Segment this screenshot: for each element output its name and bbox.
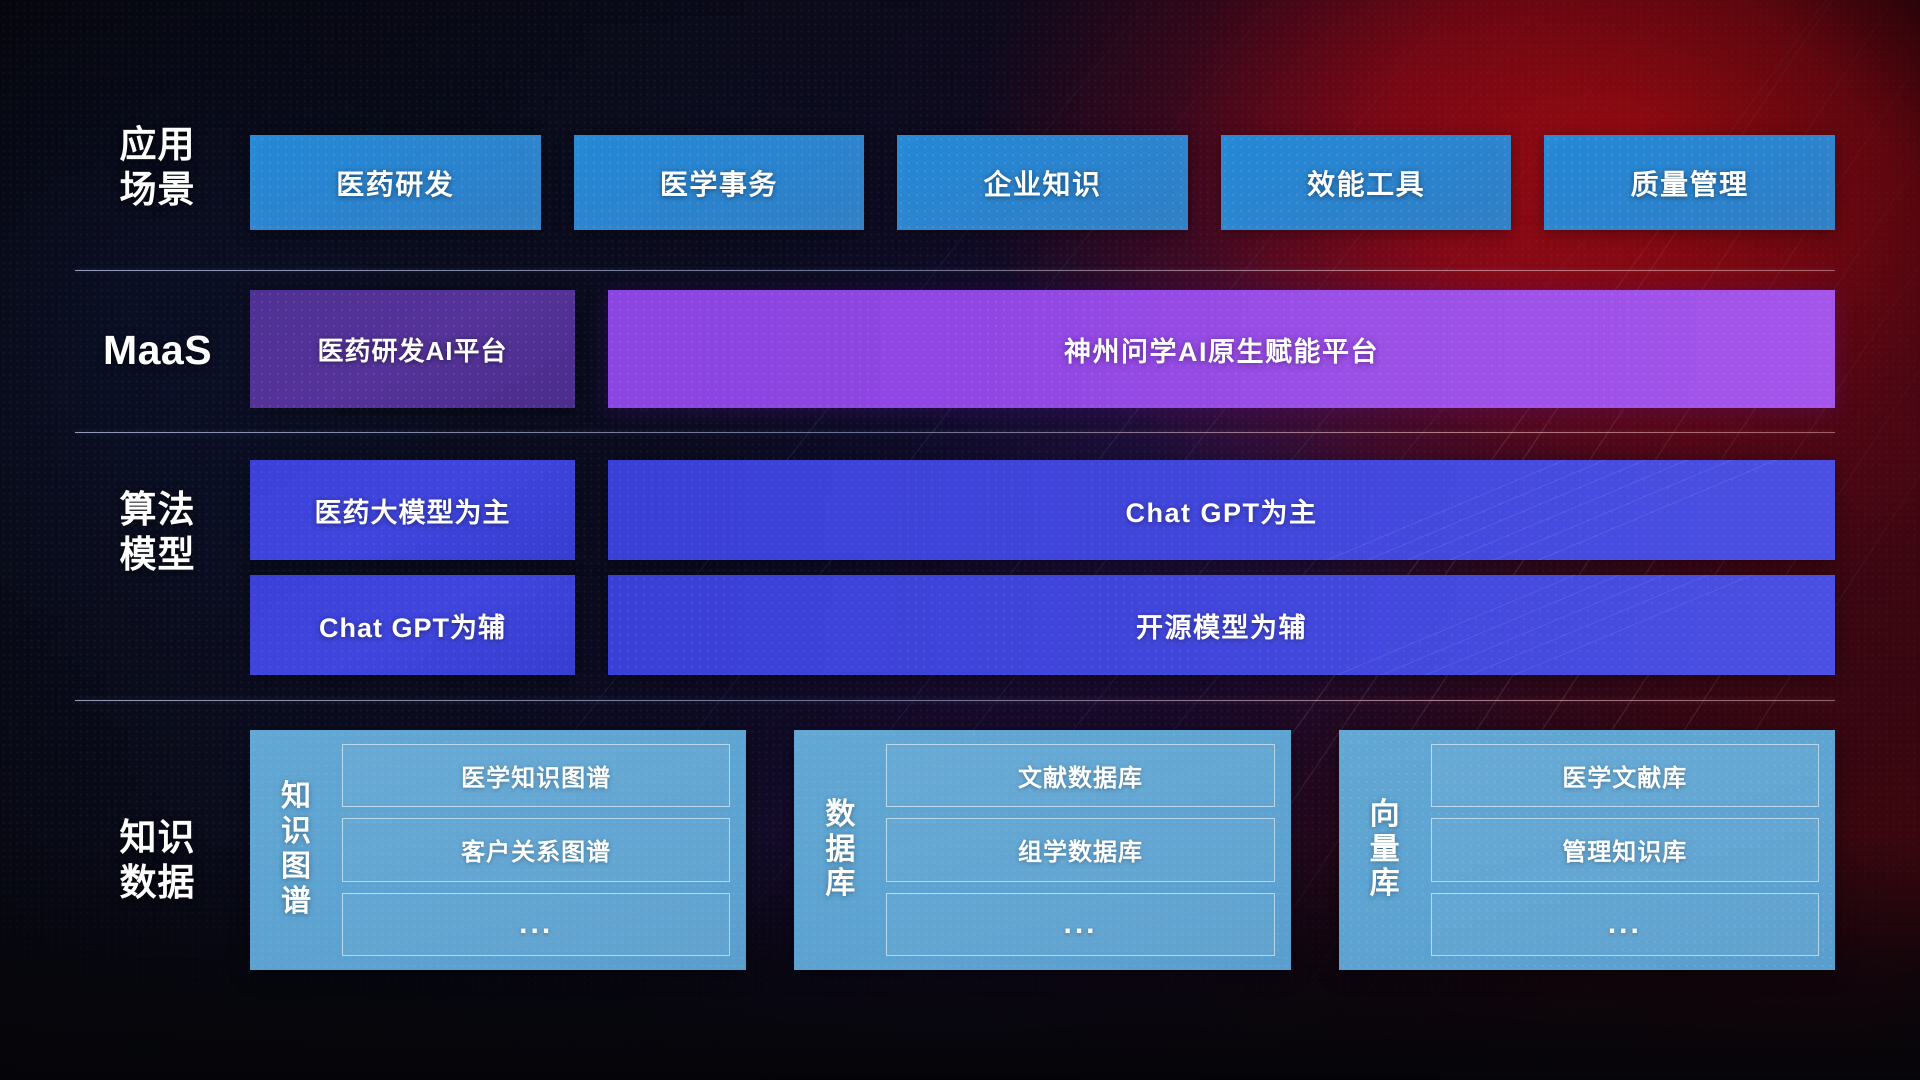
knowledge-item-medical-knowledge-graph[interactable]: 医学知识图谱 xyxy=(342,744,730,807)
app-card-label: 医学事务 xyxy=(660,163,778,203)
knowledge-item-more[interactable]: ... xyxy=(1431,893,1819,956)
knowledge-item-list: 医学知识图谱 客户关系图谱 ... xyxy=(342,744,730,956)
knowledge-item-more[interactable]: ... xyxy=(342,893,730,956)
algo-card-pharma-large-model-primary[interactable]: 医药大模型为主 xyxy=(250,460,575,560)
app-card-label: 质量管理 xyxy=(1631,163,1749,203)
knowledge-group-title-database: 数 据 库 xyxy=(808,744,872,956)
app-card-pharma-rd[interactable]: 医药研发 xyxy=(250,135,541,230)
algo-card-label: 开源模型为辅 xyxy=(1136,606,1307,645)
knowledge-item-list: 医学文献库 管理知识库 ... xyxy=(1431,744,1819,956)
app-card-quality-management[interactable]: 质量管理 xyxy=(1544,135,1835,230)
maas-card-shenzhou-wenxue-platform[interactable]: 神州问学AI原生赋能平台 xyxy=(608,290,1835,408)
maas-card-label: 医药研发AI平台 xyxy=(317,331,507,368)
row-label-algorithm: 算法 模型 xyxy=(75,487,240,577)
app-card-label: 医药研发 xyxy=(336,163,454,203)
divider-algorithm-knowledge xyxy=(75,700,1835,701)
application-scenario-card-list: 医药研发 医学事务 企业知识 效能工具 质量管理 xyxy=(250,135,1835,230)
row-label-knowledge-line1: 知识 xyxy=(75,815,240,860)
title-char: 库 xyxy=(825,867,855,902)
row-label-knowledge-line2: 数据 xyxy=(75,860,240,905)
app-card-label: 效能工具 xyxy=(1307,163,1425,203)
knowledge-item-omics-database[interactable]: 组学数据库 xyxy=(886,818,1274,881)
row-label-application: 应用 场景 xyxy=(75,122,240,212)
app-card-label: 企业知识 xyxy=(983,163,1101,203)
knowledge-data-group-list: 知 识 图 谱 医学知识图谱 客户关系图谱 ... 数 据 库 文献数据库 组学… xyxy=(250,730,1835,970)
knowledge-group-database: 数 据 库 文献数据库 组学数据库 ... xyxy=(794,730,1290,970)
knowledge-group-title-knowledge-graph: 知 识 图 谱 xyxy=(264,744,328,956)
knowledge-item-list: 文献数据库 组学数据库 ... xyxy=(886,744,1274,956)
row-label-maas-text: MaaS xyxy=(75,325,240,375)
algo-card-label: Chat GPT为主 xyxy=(1125,491,1317,530)
title-char: 图 xyxy=(281,850,311,885)
maas-card-label: 神州问学AI原生赋能平台 xyxy=(1064,330,1379,369)
row-label-maas: MaaS xyxy=(75,325,240,375)
knowledge-group-knowledge-graph: 知 识 图 谱 医学知识图谱 客户关系图谱 ... xyxy=(250,730,746,970)
knowledge-item-management-knowledge-store[interactable]: 管理知识库 xyxy=(1431,818,1819,881)
row-label-algorithm-line1: 算法 xyxy=(75,487,240,532)
row-label-algorithm-line2: 模型 xyxy=(75,532,240,577)
algo-card-opensource-model-secondary[interactable]: 开源模型为辅 xyxy=(608,575,1835,675)
knowledge-group-title-vector-store: 向 量 库 xyxy=(1353,744,1417,956)
knowledge-item-more[interactable]: ... xyxy=(886,893,1274,956)
title-char: 向 xyxy=(1370,798,1400,833)
title-char: 量 xyxy=(1370,833,1400,868)
algo-card-label: Chat GPT为辅 xyxy=(319,606,506,645)
title-char: 谱 xyxy=(281,885,311,920)
row-label-knowledge: 知识 数据 xyxy=(75,815,240,905)
algorithm-model-row-secondary: Chat GPT为辅 开源模型为辅 xyxy=(250,575,1835,675)
title-char: 知 xyxy=(281,780,311,815)
algo-card-chatgpt-primary[interactable]: Chat GPT为主 xyxy=(608,460,1835,560)
algo-card-label: 医药大模型为主 xyxy=(315,491,511,530)
maas-platform-row: 医药研发AI平台 神州问学AI原生赋能平台 xyxy=(250,290,1835,408)
title-char: 库 xyxy=(1370,867,1400,902)
algorithm-model-row-primary: 医药大模型为主 Chat GPT为主 xyxy=(250,460,1835,560)
app-card-medical-affairs[interactable]: 医学事务 xyxy=(574,135,865,230)
knowledge-item-literature-database[interactable]: 文献数据库 xyxy=(886,744,1274,807)
app-card-efficiency-tools[interactable]: 效能工具 xyxy=(1221,135,1512,230)
knowledge-item-customer-relation-graph[interactable]: 客户关系图谱 xyxy=(342,818,730,881)
row-label-application-line1: 应用 xyxy=(75,122,240,167)
divider-application-maas xyxy=(75,270,1835,271)
row-label-application-line2: 场景 xyxy=(75,167,240,212)
title-char: 据 xyxy=(825,833,855,868)
title-char: 数 xyxy=(825,798,855,833)
app-card-enterprise-knowledge[interactable]: 企业知识 xyxy=(897,135,1188,230)
knowledge-group-vector-store: 向 量 库 医学文献库 管理知识库 ... xyxy=(1339,730,1835,970)
algo-card-chatgpt-secondary[interactable]: Chat GPT为辅 xyxy=(250,575,575,675)
maas-card-pharma-ai-platform[interactable]: 医药研发AI平台 xyxy=(250,290,575,408)
knowledge-item-medical-literature-store[interactable]: 医学文献库 xyxy=(1431,744,1819,807)
title-char: 识 xyxy=(281,815,311,850)
divider-maas-algorithm xyxy=(75,432,1835,433)
